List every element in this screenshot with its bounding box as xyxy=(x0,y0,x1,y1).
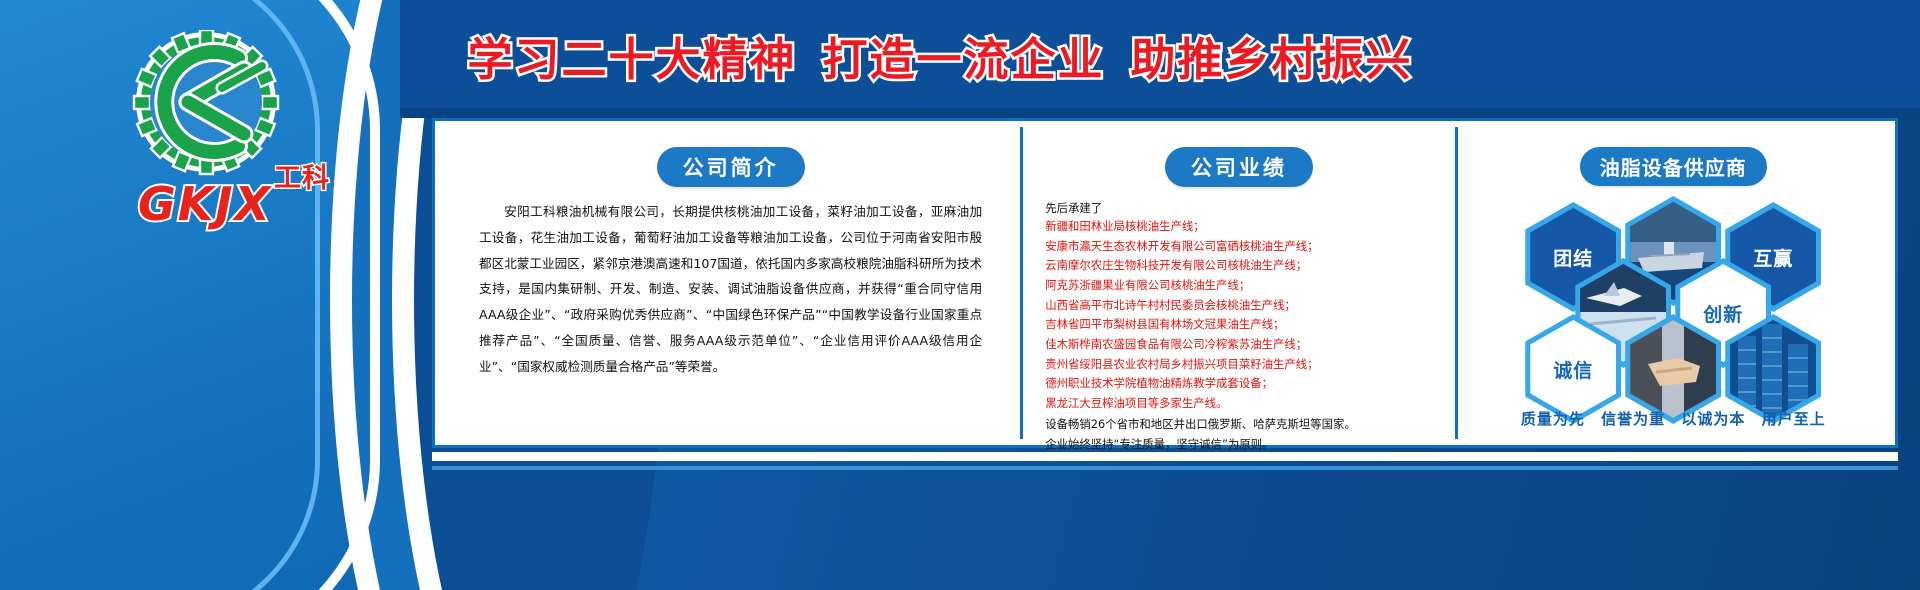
headline-part-3: 助推乡村振兴 xyxy=(1131,23,1413,88)
list-item: 黑龙江大豆榨油项目等多家生产线。 xyxy=(1045,394,1436,414)
header-band-shadow xyxy=(400,108,1920,118)
slogan-word: 用户至上 xyxy=(1762,410,1826,428)
list-item: 山西省高平市北诗午村村民委员会核桃油生产线； xyxy=(1045,296,1436,316)
handshake-icon xyxy=(1630,320,1716,418)
panel-company-performance: 公司业绩 先后承建了 新疆和田林业局核桃油生产线； 安康市瀛天生态农林开发有限公… xyxy=(1020,127,1454,439)
slogan-word: 质量为先 xyxy=(1521,410,1585,428)
list-item: 贵州省绥阳县农业农村局乡村振兴项目菜籽油生产线； xyxy=(1045,355,1436,375)
company-profile-body: 安阳工科粮油机械有限公司，长期提供核桃油加工设备，菜籽油加工设备，亚麻油加工设备… xyxy=(453,197,1008,380)
panel-title-company-performance: 公司业绩 xyxy=(1165,147,1313,187)
supplier-slogan: 质量为先 信誉为重 以诚为本 用户至上 xyxy=(1458,408,1889,429)
performance-footer-line: 设备畅销26个省市和地区并出口俄罗斯、哈萨克斯坦等国家。 xyxy=(1045,415,1436,435)
list-item: 阿克苏浙疆果业有限公司核桃油生产线； xyxy=(1045,276,1436,296)
skyscraper-photo xyxy=(1730,320,1816,418)
under-panel-blue-strip xyxy=(432,466,1898,470)
slogan-word: 信誉为重 xyxy=(1601,410,1665,428)
list-item: 云南摩尔农庄生物科技开发有限公司核桃油生产线； xyxy=(1045,256,1436,276)
panel-oil-equipment-supplier: 油脂设备供应商 团结 互赢 xyxy=(1455,127,1889,439)
logo-latin-name: GKJX xyxy=(138,177,272,231)
company-logo: 工科 GKJX xyxy=(118,30,328,205)
list-item: 德州职业技术学院植物油精炼教学成套设备； xyxy=(1045,374,1436,394)
headline-part-1: 学习二十大精神 xyxy=(467,23,796,88)
headline-part-2: 打造一流企业 xyxy=(822,23,1104,88)
list-item: 新疆和田林业局核桃油生产线； xyxy=(1045,217,1436,237)
performance-list: 新疆和田林业局核桃油生产线； 安康市瀛天生态农林开发有限公司富硒核桃油生产线； … xyxy=(1035,217,1442,413)
performance-footer-line: 企业始终坚持“专注质量，坚守诚信”为原则。 xyxy=(1045,435,1436,455)
panel-company-profile: 公司简介 安阳工科粮油机械有限公司，长期提供核桃油加工设备，菜籽油加工设备，亚麻… xyxy=(441,127,1020,439)
content-panels: 公司简介 安阳工科粮油机械有限公司，长期提供核桃油加工设备，菜籽油加工设备，亚麻… xyxy=(432,118,1898,448)
panel-title-company-profile: 公司简介 xyxy=(657,147,805,187)
hex-chengxin-label: 诚信 xyxy=(1530,320,1616,418)
poster-headline: 学习二十大精神 打造一流企业 助推乡村振兴 xyxy=(440,20,1440,90)
panel-title-oil-equipment-supplier: 油脂设备供应商 xyxy=(1580,147,1767,186)
logo-chinese-name: 工科 xyxy=(274,156,330,195)
performance-footer: 设备畅销26个省市和地区并出口俄罗斯、哈萨克斯坦等国家。 企业始终坚持“专注质量… xyxy=(1035,413,1442,454)
list-item: 佳木斯桦南农盛园食品有限公司冷榨紫苏油生产线； xyxy=(1045,335,1436,355)
slogan-word: 以诚为本 xyxy=(1681,410,1745,428)
hex-cluster: 团结 互赢 xyxy=(1470,196,1877,396)
skyscraper-icon xyxy=(1730,320,1816,418)
list-item: 安康市瀛天生态农林开发有限公司富硒核桃油生产线； xyxy=(1045,237,1436,257)
performance-lead: 先后承建了 xyxy=(1035,197,1442,217)
handshake-photo xyxy=(1630,320,1716,418)
list-item: 吉林省四平市梨树县国有林场文冠果油生产线； xyxy=(1045,315,1436,335)
